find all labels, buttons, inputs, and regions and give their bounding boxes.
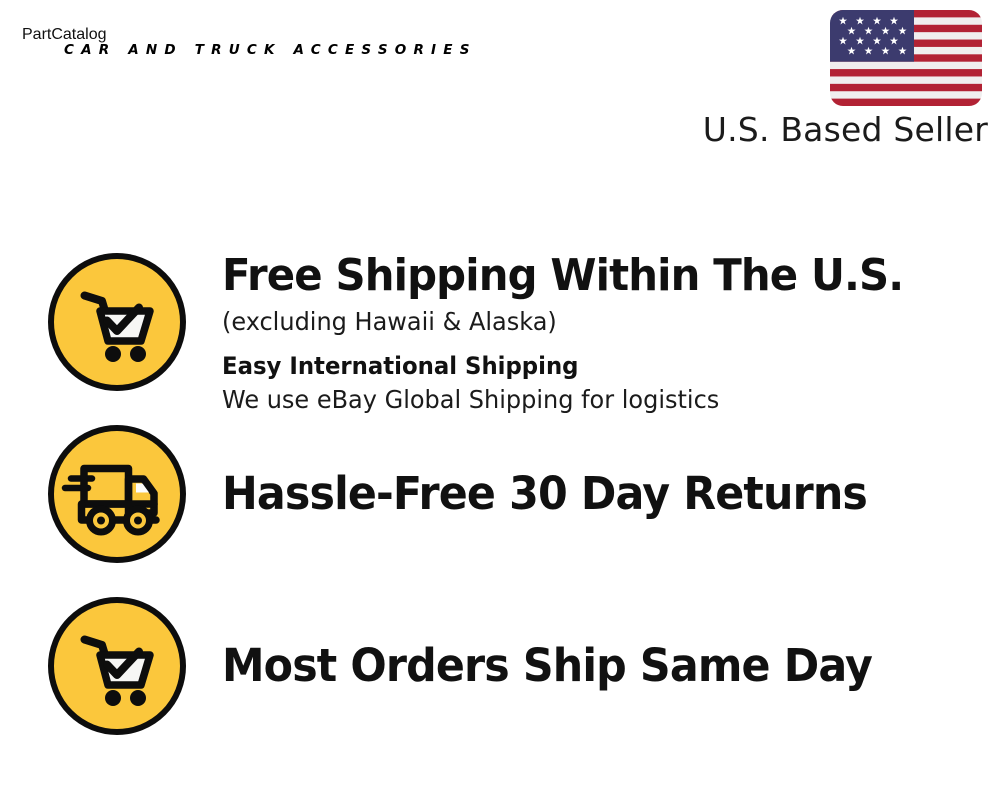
feature-heading: Most Orders Ship Same Day bbox=[222, 641, 961, 691]
feature-text: Hassle-Free 30 Day Returns bbox=[222, 469, 1000, 519]
delivery-truck-icon bbox=[44, 421, 190, 567]
us-based-seller-label: U.S. Based Seller bbox=[700, 110, 990, 150]
shopping-cart-check-icon bbox=[44, 593, 190, 739]
brand-logo[interactable]: PartCatalog CAR AND TRUCK ACCESSORIES bbox=[22, 26, 492, 116]
feature-text: Free Shipping Within The U.S. (excluding… bbox=[222, 249, 1000, 417]
feature-row: Most Orders Ship Same Day bbox=[0, 593, 1000, 739]
us-based-seller-badge: U.S. Based Seller bbox=[700, 10, 990, 150]
feature-subheading: Easy International Shipping bbox=[222, 350, 961, 382]
brand-tagline: CAR AND TRUCK ACCESSORIES bbox=[22, 42, 492, 58]
feature-subnote: We use eBay Global Shipping for logistic… bbox=[222, 383, 969, 417]
feature-row: Hassle-Free 30 Day Returns bbox=[0, 421, 1000, 567]
feature-row: Free Shipping Within The U.S. (excluding… bbox=[0, 249, 1000, 417]
shopping-cart-check-icon bbox=[44, 249, 190, 395]
feature-heading: Free Shipping Within The U.S. bbox=[222, 251, 961, 301]
feature-note: (excluding Hawaii & Alaska) bbox=[222, 305, 969, 339]
feature-heading: Hassle-Free 30 Day Returns bbox=[222, 469, 961, 519]
feature-text: Most Orders Ship Same Day bbox=[222, 641, 1000, 691]
us-flag-icon bbox=[830, 10, 982, 106]
